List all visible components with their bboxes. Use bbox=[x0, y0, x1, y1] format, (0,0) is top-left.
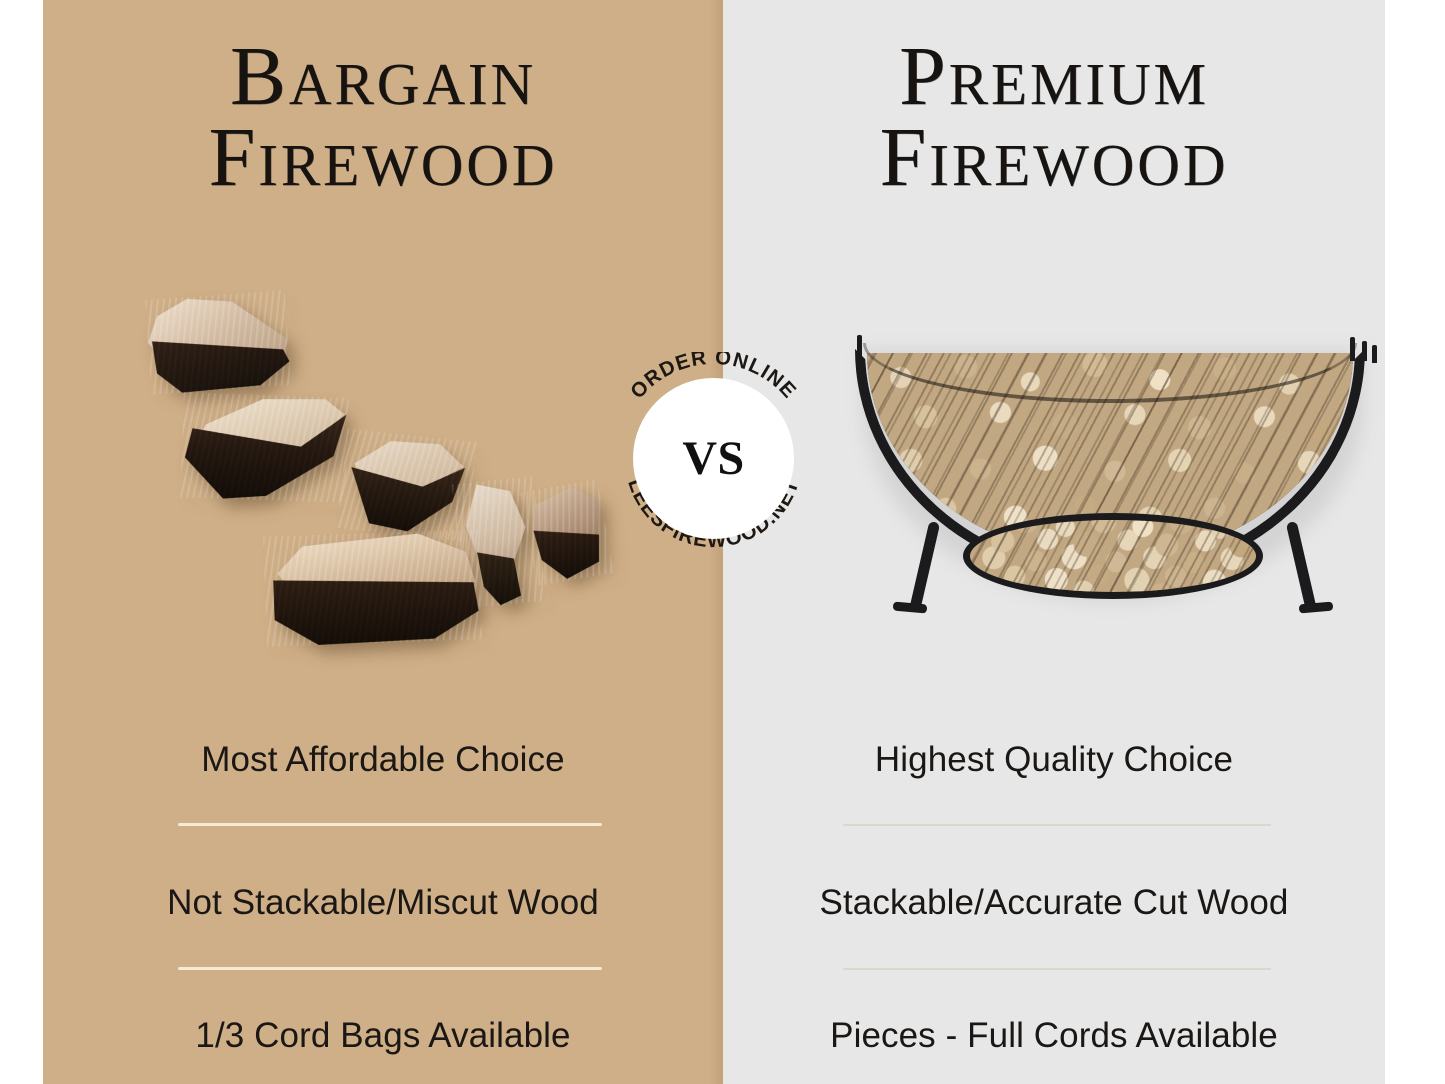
premium-feature-2: Stackable/Accurate Cut Wood bbox=[723, 883, 1385, 923]
wood-chunk-icon bbox=[145, 290, 291, 395]
wood-chunk-icon bbox=[263, 529, 482, 646]
rack-finial-icon bbox=[857, 335, 862, 361]
stacked-logs-lower bbox=[963, 513, 1263, 599]
rack-finial-icon bbox=[1372, 345, 1377, 363]
bargain-divider-1 bbox=[178, 823, 602, 826]
vs-badge: ORDER ONLINE LEESFIREWOOD.NET VS bbox=[607, 352, 820, 565]
rack-foot-left bbox=[893, 602, 928, 614]
premium-feature-1: Highest Quality Choice bbox=[723, 740, 1385, 780]
premium-title: Premium Firewood bbox=[723, 36, 1385, 199]
bargain-divider-2 bbox=[178, 967, 602, 970]
comparison-infographic: Bargain Firewood Premium Firewood bbox=[0, 0, 1445, 1084]
rack-finial-icon bbox=[1362, 341, 1367, 361]
rack-finial-icon bbox=[1350, 337, 1355, 361]
badge-vs-label: VS bbox=[633, 378, 794, 539]
premium-title-line2: Firewood bbox=[723, 117, 1385, 198]
premium-firewood-rack-image bbox=[845, 335, 1385, 620]
bargain-title: Bargain Firewood bbox=[43, 36, 723, 199]
premium-divider-1 bbox=[843, 824, 1271, 826]
wood-chunk-icon bbox=[520, 479, 613, 586]
bargain-firewood-image bbox=[120, 285, 600, 655]
bargain-title-line2: Firewood bbox=[43, 117, 723, 198]
bargain-feature-3: 1/3 Cord Bags Available bbox=[43, 1016, 723, 1056]
premium-feature-3: Pieces - Full Cords Available bbox=[723, 1016, 1385, 1056]
bargain-title-line1: Bargain bbox=[230, 30, 536, 123]
bargain-feature-2: Not Stackable/Miscut Wood bbox=[43, 883, 723, 923]
premium-divider-2 bbox=[843, 968, 1271, 970]
bargain-feature-1: Most Affordable Choice bbox=[43, 740, 723, 780]
wood-chunk-icon bbox=[180, 392, 349, 503]
premium-title-line1: Premium bbox=[899, 30, 1209, 123]
rack-foot-right bbox=[1299, 602, 1334, 614]
